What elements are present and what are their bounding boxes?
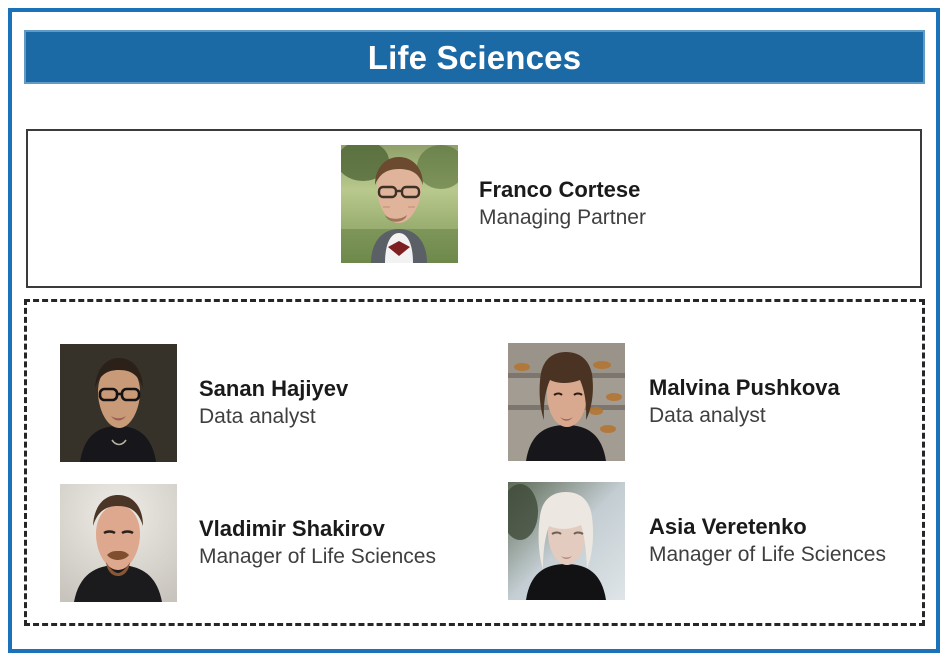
person-card-lead[interactable]: Franco Cortese Managing Partner: [341, 145, 646, 263]
page-title: Life Sciences: [368, 41, 582, 74]
page-title-banner: Life Sciences: [24, 30, 925, 84]
person-card-2[interactable]: Malvina Pushkova Data analyst: [508, 343, 840, 461]
person-name: Sanan Hajiyev: [199, 375, 348, 403]
person-role: Manager of Life Sciences: [199, 543, 436, 570]
person-text-block: Malvina Pushkova Data analyst: [649, 374, 840, 429]
person-card-4[interactable]: Asia Veretenko Manager of Life Sciences: [508, 482, 886, 600]
person-name: Malvina Pushkova: [649, 374, 840, 402]
portrait-malvina-pushkova: [508, 343, 625, 461]
person-text-block: Asia Veretenko Manager of Life Sciences: [649, 513, 886, 568]
person-role: Managing Partner: [479, 204, 646, 231]
org-chart-page: Life Sciences: [0, 0, 948, 661]
portrait-sanan-hajiyev: [60, 344, 177, 462]
portrait-franco-cortese: [341, 145, 458, 263]
person-role: Manager of Life Sciences: [649, 541, 886, 568]
portrait-vladimir-shakirov: [60, 484, 177, 602]
person-text-block: Vladimir Shakirov Manager of Life Scienc…: [199, 515, 436, 570]
person-role: Data analyst: [649, 402, 840, 429]
person-role: Data analyst: [199, 403, 348, 430]
person-name: Franco Cortese: [479, 176, 646, 204]
person-name: Asia Veretenko: [649, 513, 886, 541]
person-text-block: Franco Cortese Managing Partner: [479, 176, 646, 231]
person-name: Vladimir Shakirov: [199, 515, 436, 543]
person-card-1[interactable]: Sanan Hajiyev Data analyst: [60, 344, 348, 462]
person-card-3[interactable]: Vladimir Shakirov Manager of Life Scienc…: [60, 484, 436, 602]
person-text-block: Sanan Hajiyev Data analyst: [199, 375, 348, 430]
portrait-asia-veretenko: [508, 482, 625, 600]
